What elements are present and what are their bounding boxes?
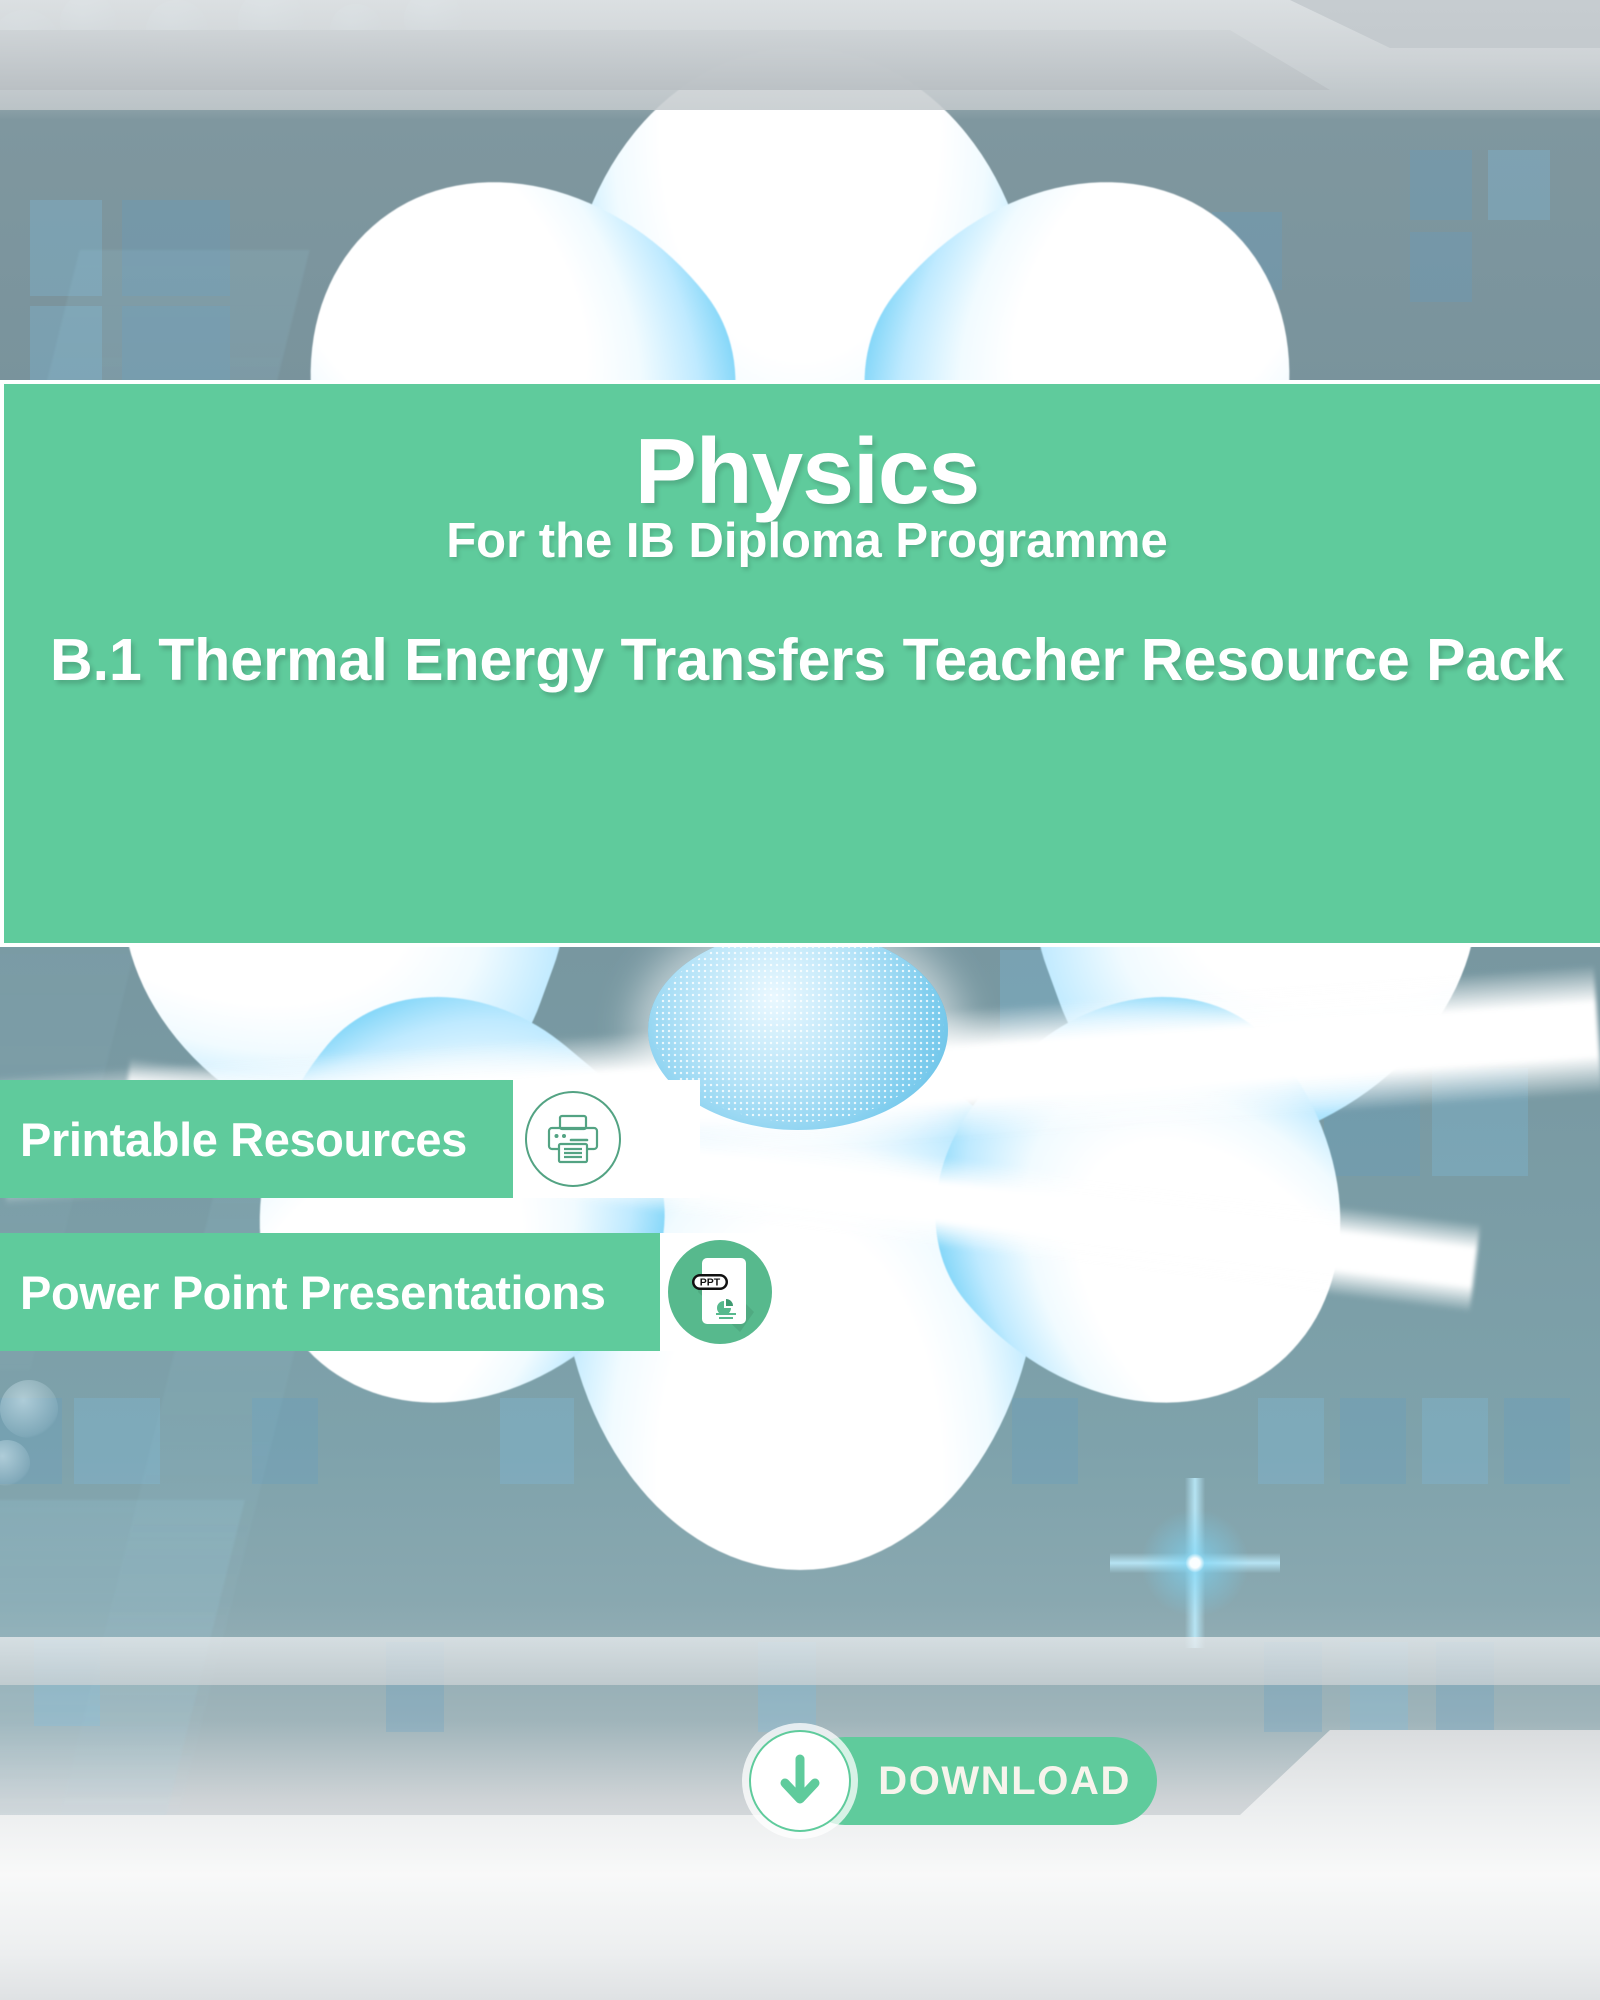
title-card: Physics For the IB Diploma Programme B.1… <box>0 380 1600 947</box>
feature-badge-printable-resources[interactable]: Printable Resources <box>0 1080 700 1198</box>
svg-text:PPT: PPT <box>700 1277 721 1289</box>
programme-subtitle: For the IB Diploma Programme <box>4 515 1600 569</box>
feature-badge-label: Power Point Presentations <box>0 1233 660 1351</box>
background-plate-top-shadow <box>0 30 1330 90</box>
download-label: DOWNLOAD <box>878 1759 1131 1804</box>
background-plate-mid <box>0 1637 1600 1685</box>
cover-page: Physics For the IB Diploma Programme B.1… <box>0 0 1600 2000</box>
feature-badge-powerpoint-presentations[interactable]: Power Point Presentations PPT <box>0 1233 810 1351</box>
download-arrow-icon[interactable] <box>749 1730 851 1832</box>
powerpoint-file-icon: PPT <box>660 1233 780 1351</box>
download-pill[interactable]: DOWNLOAD <box>801 1737 1157 1825</box>
page-title: Physics <box>4 424 1600 519</box>
resource-title: B.1 Thermal Energy Transfers Teacher Res… <box>4 625 1600 697</box>
printer-icon <box>513 1080 633 1198</box>
download-button[interactable]: DOWNLOAD <box>749 1730 851 1832</box>
feature-badge-label: Printable Resources <box>0 1080 513 1198</box>
